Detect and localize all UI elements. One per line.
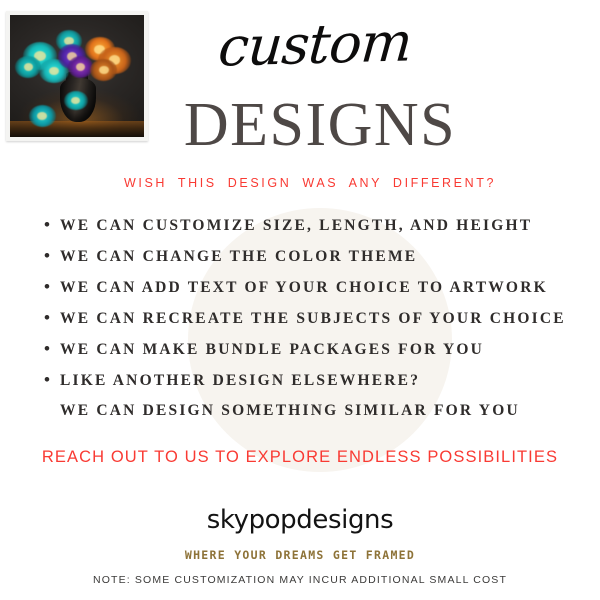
painting-bloom-purple <box>68 56 93 78</box>
brand-logo-text: skypopdesigns <box>100 505 500 535</box>
bullet-dot-icon: • <box>44 278 60 295</box>
list-item: • WE CAN CUSTOMIZE SIZE, LENGTH, AND HEI… <box>44 216 592 247</box>
painting-bloom-orange <box>90 59 117 81</box>
list-item-label: WE CAN ADD TEXT OF YOUR CHOICE TO ARTWOR… <box>60 279 548 297</box>
list-item-label: WE CAN CUSTOMIZE SIZE, LENGTH, AND HEIGH… <box>60 217 532 235</box>
painting-table-surface <box>10 121 144 137</box>
list-item: • WE CAN CHANGE THE COLOR THEME <box>44 247 592 278</box>
bullet-dot-icon: • <box>44 216 60 233</box>
subtitle-question: WISH THIS DESIGN WAS ANY DIFFERENT? <box>60 176 560 190</box>
list-item: • LIKE ANOTHER DESIGN ELSEWHERE? <box>44 371 592 402</box>
footnote-disclaimer: NOTE: SOME CUSTOMIZATION MAY INCUR ADDIT… <box>40 574 560 586</box>
floral-painting-image <box>10 15 144 137</box>
bullet-dot-icon: • <box>44 371 60 388</box>
list-item-label: WE CAN DESIGN SOMETHING SIMILAR FOR YOU <box>60 402 520 420</box>
list-item-label: WE CAN RECREATE THE SUBJECTS OF YOUR CHO… <box>60 310 566 328</box>
framed-artwork-thumbnail[interactable] <box>6 11 148 141</box>
list-item: • WE CAN MAKE BUNDLE PACKAGES FOR YOU <box>44 340 592 371</box>
list-item-continuation: WE CAN DESIGN SOMETHING SIMILAR FOR YOU <box>44 402 592 433</box>
customization-options-list: • WE CAN CUSTOMIZE SIZE, LENGTH, AND HEI… <box>44 216 592 433</box>
painting-bloom-teal <box>29 105 56 127</box>
painting-bloom-teal <box>15 56 40 78</box>
painting-bloom-teal <box>64 91 88 111</box>
page-title: DESIGNS <box>150 94 490 156</box>
list-item-label: LIKE ANOTHER DESIGN ELSEWHERE? <box>60 372 420 390</box>
bullet-dot-icon: • <box>44 340 60 357</box>
list-item: • WE CAN ADD TEXT OF YOUR CHOICE TO ARTW… <box>44 278 592 309</box>
call-to-action-text: REACH OUT TO US TO EXPLORE ENDLESS POSSI… <box>15 448 585 467</box>
list-item: • WE CAN RECREATE THE SUBJECTS OF YOUR C… <box>44 309 592 340</box>
bullet-dot-icon: • <box>44 247 60 264</box>
script-headline: custom <box>147 13 482 76</box>
bullet-dot-icon: • <box>44 309 60 326</box>
list-item-label: WE CAN MAKE BUNDLE PACKAGES FOR YOU <box>60 341 484 359</box>
brand-tagline: WHERE YOUR DREAMS GET FRAMED <box>100 548 500 562</box>
infographic-canvas: custom DESIGNS WISH THIS DESIGN WAS ANY … <box>0 0 600 600</box>
list-item-label: WE CAN CHANGE THE COLOR THEME <box>60 248 417 266</box>
